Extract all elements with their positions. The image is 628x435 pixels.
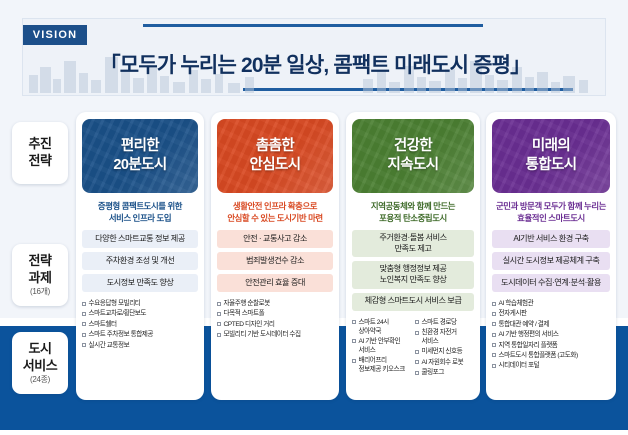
rail-label-line1: 전략: [29, 253, 52, 269]
column-banner-line2: 지속도시: [388, 156, 439, 175]
strategy-task[interactable]: 도시데이터 수집·연계·분석·활용: [492, 274, 610, 292]
column-description: 군민과 방문객 모두가 함께 누리는효율적인 스마트도시: [492, 200, 610, 226]
checkbox-icon: [82, 343, 86, 347]
checkbox-icon: [217, 322, 221, 326]
column-description-line2: 안심할 수 있는 도시기반 마련: [217, 212, 333, 224]
checkbox-icon: [492, 333, 496, 337]
service-item[interactable]: 자율주행 순찰로봇: [217, 300, 333, 309]
strategy-task[interactable]: 안전 · 교통사고 감소: [217, 230, 333, 248]
service-item-label: 자율주행 순찰로봇: [224, 300, 270, 309]
column-banner-line1: 건강한: [394, 137, 432, 156]
service-item-label: 통합대관 예약 / 결제: [499, 321, 549, 330]
service-item-label: 배리어프리정보제공 키오스크: [359, 357, 405, 375]
service-item[interactable]: 스마트 24시상아약국: [352, 319, 411, 337]
page-title: 「모두가 누리는 20분 일상, 콤팩트 미래도시 증평」: [23, 49, 607, 79]
vision-tag: VISION: [23, 25, 87, 45]
column-banner: 미래의통합도시: [492, 119, 610, 193]
service-item-label: 친환경 자전거서비스: [422, 329, 457, 347]
column-banner-line2: 통합도시: [526, 156, 577, 175]
rail-label-services: 도시 서비스 (24종): [12, 332, 68, 394]
service-list-left: 스마트 24시상아약국AI 기반 안부확인서비스배리어프리정보제공 키오스크: [352, 319, 411, 380]
column-description-line1: 지역공동체와 함께 만드는: [352, 200, 474, 212]
column-description: 지역공동체와 함께 만드는포용적 탄소중립도시: [352, 200, 474, 226]
service-list-group: 자율주행 순찰로봇다목적 스마트폴CPTED 디자인 거리모빌리티 기반 도시데…: [217, 300, 333, 342]
strategy-task[interactable]: AI기반 서비스 환경 구축: [492, 230, 610, 248]
strategy-task[interactable]: 범죄발생건수 감소: [217, 252, 333, 270]
strategy-task-label: 체감형 스마트도시 서비스 보급: [365, 296, 462, 307]
rail-label-line2: 과제: [29, 270, 52, 286]
blue-band-bottom-gap: [0, 430, 628, 435]
service-item-label: 스마트교차로/횡단보도: [89, 310, 147, 319]
strategy-task-label: 다양한 스마트교통 정보 제공: [95, 234, 185, 245]
service-item-label: 미세먼지 신호등: [422, 348, 463, 357]
checkbox-icon: [492, 353, 496, 357]
service-item-label: AI 기반 안부확인서비스: [359, 338, 401, 356]
service-item[interactable]: 스마트 경로당: [415, 319, 474, 328]
column-description-line1: 증평형 콤팩트도시를 위한: [82, 200, 198, 212]
service-item[interactable]: 스마트도시 통합플랫폼 (고도화): [492, 352, 610, 361]
service-item[interactable]: 스마트쉘터: [82, 321, 198, 330]
service-item-label: 스마트쉘터: [89, 321, 117, 330]
checkbox-icon: [492, 312, 496, 316]
column-banner: 건강한지속도시: [352, 119, 474, 193]
column-description-line1: 군민과 방문객 모두가 함께 누리는: [492, 200, 610, 212]
column-banner-line2: 20분도시: [113, 156, 166, 175]
service-item-label: 실시간 교통정보: [89, 342, 130, 351]
strategy-task[interactable]: 맞춤형 행정정보 제공노인복지 만족도 향상: [352, 261, 474, 288]
infographic-page: VISION 「모두가 누리는 20분 일상, 콤팩트 미래도시 증평」 추진 …: [0, 0, 628, 435]
service-item[interactable]: 미세먼지 신호등: [415, 348, 474, 357]
strategy-task-label: 실시간 도시정보 제공체계 구축: [503, 256, 600, 267]
strategy-column-sustainable-city[interactable]: 건강한지속도시지역공동체와 함께 만드는포용적 탄소중립도시주거환경·돌봄 서비…: [346, 112, 480, 400]
checkbox-icon: [217, 333, 221, 337]
column-banner-line2: 안심도시: [250, 156, 301, 175]
service-item[interactable]: 친환경 자전거서비스: [415, 329, 474, 347]
service-item[interactable]: CPTED 디자인 거리: [217, 321, 333, 330]
checkbox-icon: [352, 320, 356, 324]
service-list-left: 자율주행 순찰로봇다목적 스마트폴CPTED 디자인 거리모빌리티 기반 도시데…: [217, 300, 333, 342]
service-item[interactable]: AI 학습체험관: [492, 300, 610, 309]
strategy-task[interactable]: 주거환경·돌봄 서비스만족도 제고: [352, 230, 474, 257]
rail-label-line2: 전략: [29, 153, 52, 169]
service-item-label: 모빌리티 기반 도시데이터 수집: [224, 331, 301, 340]
column-description-line1: 생활안전 인프라 확충으로: [217, 200, 333, 212]
service-item-label: 전자게시판: [499, 310, 527, 319]
checkbox-icon: [82, 333, 86, 337]
rail-label-line1: 도시: [29, 341, 52, 357]
checkbox-icon: [415, 331, 419, 335]
service-item-label: 수요응답형 모빌리티: [89, 300, 141, 309]
service-item-label: 시티데이터 포털: [499, 362, 540, 371]
checkbox-icon: [415, 350, 419, 354]
service-list-left: AI 학습체험관전자게시판통합대관 예약 / 결제AI 기반 행정편의 서비스지…: [492, 300, 610, 373]
service-item-label: AI 학습체험관: [499, 300, 534, 309]
strategy-task-label: 범죄발생건수 감소: [246, 256, 304, 267]
rail-label-strategy: 추진 전략: [12, 122, 68, 184]
service-item[interactable]: 수요응답형 모빌리티: [82, 300, 198, 309]
column-banner-line1: 편리한: [121, 137, 159, 156]
service-item[interactable]: 쿨링포그: [415, 369, 474, 378]
strategy-task-label: AI기반 서비스 환경 구축: [513, 234, 588, 245]
service-item-label: 쿨링포그: [422, 369, 444, 378]
service-item[interactable]: 시티데이터 포털: [492, 362, 610, 371]
service-list-right: 스마트 경로당친환경 자전거서비스미세먼지 신호등AI 자원회수 로봇쿨링포그: [415, 319, 474, 380]
checkbox-icon: [352, 339, 356, 343]
service-item[interactable]: 배리어프리정보제공 키오스크: [352, 357, 411, 375]
checkbox-icon: [82, 302, 86, 306]
checkbox-icon: [415, 360, 419, 364]
strategy-task[interactable]: 다양한 스마트교통 정보 제공: [82, 230, 198, 248]
column-banner: 촘촘한안심도시: [217, 119, 333, 193]
rail-label-line1: 추진: [29, 136, 52, 152]
strategy-task[interactable]: 실시간 도시정보 제공체계 구축: [492, 252, 610, 270]
service-item[interactable]: 전자게시판: [492, 310, 610, 319]
checkbox-icon: [217, 312, 221, 316]
strategy-task-label: 안전관리 효율 증대: [245, 278, 305, 289]
service-item[interactable]: 통합대관 예약 / 결제: [492, 321, 610, 330]
vision-banner: VISION 「모두가 누리는 20분 일상, 콤팩트 미래도시 증평」: [22, 18, 606, 96]
service-list-group: 스마트 24시상아약국AI 기반 안부확인서비스배리어프리정보제공 키오스크스마…: [352, 319, 474, 380]
column-description-line2: 포용적 탄소중립도시: [352, 212, 474, 224]
service-item-label: 다목적 스마트폴: [224, 310, 265, 319]
column-description-line2: 서비스 인프라 도입: [82, 212, 198, 224]
strategy-task-label: 주차환경 조성 및 개선: [106, 256, 175, 267]
service-item[interactable]: 모빌리티 기반 도시데이터 수집: [217, 331, 333, 340]
checkbox-icon: [217, 302, 221, 306]
rail-label-sub: (24종): [30, 375, 50, 385]
checkbox-icon: [82, 312, 86, 316]
service-item-label: 지역 통합일자리 플랫폼: [499, 342, 558, 351]
column-description: 생활안전 인프라 확충으로안심할 수 있는 도시기반 마련: [217, 200, 333, 226]
service-list-group: 수요응답형 모빌리티스마트교차로/횡단보도스마트쉘터스마트 주차정보 통합제공실…: [82, 300, 198, 352]
strategy-task-label: 도시데이터 수집·연계·분석·활용: [501, 278, 601, 289]
rail-label-sub: (16개): [30, 287, 50, 297]
checkbox-icon: [492, 343, 496, 347]
checkbox-icon: [415, 371, 419, 375]
column-banner: 편리한20분도시: [82, 119, 198, 193]
vision-rule-top: [143, 24, 483, 27]
service-item[interactable]: 다목적 스마트폴: [217, 310, 333, 319]
service-item[interactable]: AI 기반 행정편의 서비스: [492, 331, 610, 340]
service-item[interactable]: 지역 통합일자리 플랫폼: [492, 342, 610, 351]
strategy-column-convenient-city[interactable]: 편리한20분도시증평형 콤팩트도시를 위한서비스 인프라 도입다양한 스마트교통…: [76, 112, 204, 400]
checkbox-icon: [415, 320, 419, 324]
strategy-column-integrated-city[interactable]: 미래의통합도시군민과 방문객 모두가 함께 누리는효율적인 스마트도시AI기반 …: [486, 112, 616, 400]
rail-label-tasks: 전략 과제 (16개): [12, 244, 68, 306]
service-item[interactable]: 스마트교차로/횡단보도: [82, 310, 198, 319]
strategy-task[interactable]: 도시정보 만족도 향상: [82, 274, 198, 292]
service-item-label: 스마트도시 통합플랫폼 (고도화): [499, 352, 578, 361]
strategy-task-label: 맞춤형 행정정보 제공노인복지 만족도 향상: [380, 264, 447, 285]
service-item[interactable]: 스마트 주차정보 통합제공: [82, 331, 198, 340]
checkbox-icon: [352, 359, 356, 363]
column-banner-line1: 촘촘한: [256, 137, 294, 156]
service-item[interactable]: 실시간 교통정보: [82, 342, 198, 351]
strategy-task[interactable]: 안전관리 효율 증대: [217, 274, 333, 292]
service-item-label: 스마트 주차정보 통합제공: [89, 331, 154, 340]
service-item-label: AI 자원회수 로봇: [422, 359, 464, 368]
service-item-label: CPTED 디자인 거리: [224, 321, 275, 330]
checkbox-icon: [82, 322, 86, 326]
strategy-task[interactable]: 주차환경 조성 및 개선: [82, 252, 198, 270]
checkbox-icon: [492, 322, 496, 326]
service-item-label: AI 기반 행정편의 서비스: [499, 331, 559, 340]
service-item-label: 스마트 24시상아약국: [359, 319, 389, 337]
service-item-label: 스마트 경로당: [422, 319, 457, 328]
column-description-line2: 효율적인 스마트도시: [492, 212, 610, 224]
strategy-task-label: 안전 · 교통사고 감소: [243, 234, 307, 245]
service-list-group: AI 학습체험관전자게시판통합대관 예약 / 결제AI 기반 행정편의 서비스지…: [492, 300, 610, 373]
strategy-column-safe-city[interactable]: 촘촘한안심도시생활안전 인프라 확충으로안심할 수 있는 도시기반 마련안전 ·…: [211, 112, 339, 400]
strategy-task-label: 주거환경·돌봄 서비스만족도 제고: [379, 233, 446, 254]
service-item[interactable]: AI 자원회수 로봇: [415, 359, 474, 368]
checkbox-icon: [492, 364, 496, 368]
service-item[interactable]: AI 기반 안부확인서비스: [352, 338, 411, 356]
rail-label-line2: 서비스: [23, 358, 57, 374]
strategy-task[interactable]: 체감형 스마트도시 서비스 보급: [352, 293, 474, 311]
service-list-left: 수요응답형 모빌리티스마트교차로/횡단보도스마트쉘터스마트 주차정보 통합제공실…: [82, 300, 198, 352]
strategy-task-label: 도시정보 만족도 향상: [107, 278, 174, 289]
column-description: 증평형 콤팩트도시를 위한서비스 인프라 도입: [82, 200, 198, 226]
checkbox-icon: [492, 302, 496, 306]
column-banner-line1: 미래의: [532, 137, 570, 156]
